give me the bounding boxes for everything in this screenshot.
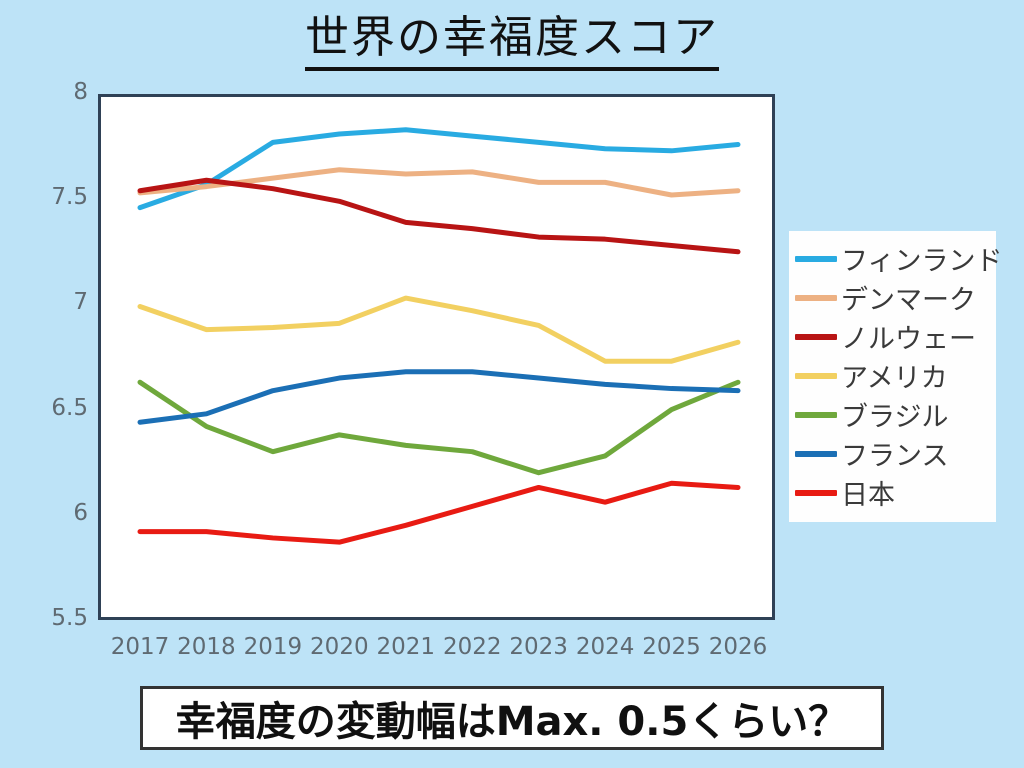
legend-item[interactable]: アメリカ xyxy=(789,356,996,395)
x-axis-tick-label: 2021 xyxy=(371,634,441,660)
x-axis-tick-label: 2026 xyxy=(703,634,773,660)
page-title-text: 世界の幸福度スコア xyxy=(305,12,719,71)
legend-color-swatch-icon xyxy=(795,373,837,379)
y-axis-tick-label: 5.5 xyxy=(14,605,88,631)
x-axis: 2017201820192020202120222023202420252026 xyxy=(98,634,775,668)
y-axis-tick-label: 6 xyxy=(14,500,88,526)
line-chart-svg xyxy=(98,94,775,620)
x-axis-tick-label: 2022 xyxy=(437,634,507,660)
legend-item-label: デンマーク xyxy=(841,278,976,317)
y-axis-tick-label: 8 xyxy=(14,79,88,105)
x-axis-tick-label: 2019 xyxy=(238,634,308,660)
legend-item[interactable]: フィンランド xyxy=(789,239,996,278)
series-line-フランス xyxy=(140,372,738,422)
legend-color-swatch-icon xyxy=(795,412,837,418)
legend-item-label: フランス xyxy=(841,434,948,473)
series-line-日本 xyxy=(140,483,738,542)
legend-color-swatch-icon xyxy=(795,334,837,340)
y-axis-tick-label: 7.5 xyxy=(14,184,88,210)
legend-item[interactable]: ブラジル xyxy=(789,395,996,434)
legend-item[interactable]: デンマーク xyxy=(789,278,996,317)
caption-text: 幸福度の変動幅はMax. 0.5くらい？ xyxy=(176,689,849,747)
series-line-アメリカ xyxy=(140,298,738,361)
y-axis: 5.566.577.58 xyxy=(0,0,88,768)
x-axis-tick-label: 2020 xyxy=(304,634,374,660)
legend-color-swatch-icon xyxy=(795,295,837,301)
caption-box: 幸福度の変動幅はMax. 0.5くらい？ xyxy=(140,686,884,750)
legend-color-swatch-icon xyxy=(795,490,837,496)
x-axis-tick-label: 2018 xyxy=(171,634,241,660)
legend-item[interactable]: フランス xyxy=(789,434,996,473)
y-axis-tick-label: 6.5 xyxy=(14,395,88,421)
x-axis-tick-label: 2025 xyxy=(637,634,707,660)
legend-item-label: 日本 xyxy=(841,473,895,512)
series-line-フィンランド xyxy=(140,130,738,208)
legend-item-label: ブラジル xyxy=(841,395,948,434)
legend-color-swatch-icon xyxy=(795,451,837,457)
legend-item[interactable]: 日本 xyxy=(789,473,996,512)
chart-legend: フィンランドデンマークノルウェーアメリカブラジルフランス日本 xyxy=(789,231,996,522)
legend-item-label: アメリカ xyxy=(841,356,948,395)
series-line-ブラジル xyxy=(140,382,738,472)
y-axis-tick-label: 7 xyxy=(14,289,88,315)
x-axis-tick-label: 2023 xyxy=(504,634,574,660)
x-axis-tick-label: 2024 xyxy=(570,634,640,660)
legend-color-swatch-icon xyxy=(795,256,837,262)
legend-item[interactable]: ノルウェー xyxy=(789,317,996,356)
page-title: 世界の幸福度スコア xyxy=(0,10,1024,66)
legend-item-label: ノルウェー xyxy=(841,317,976,356)
x-axis-tick-label: 2017 xyxy=(105,634,175,660)
legend-item-label: フィンランド xyxy=(841,239,1002,278)
slide-canvas: 世界の幸福度スコア 5.566.577.58 20172018201920202… xyxy=(0,0,1024,768)
